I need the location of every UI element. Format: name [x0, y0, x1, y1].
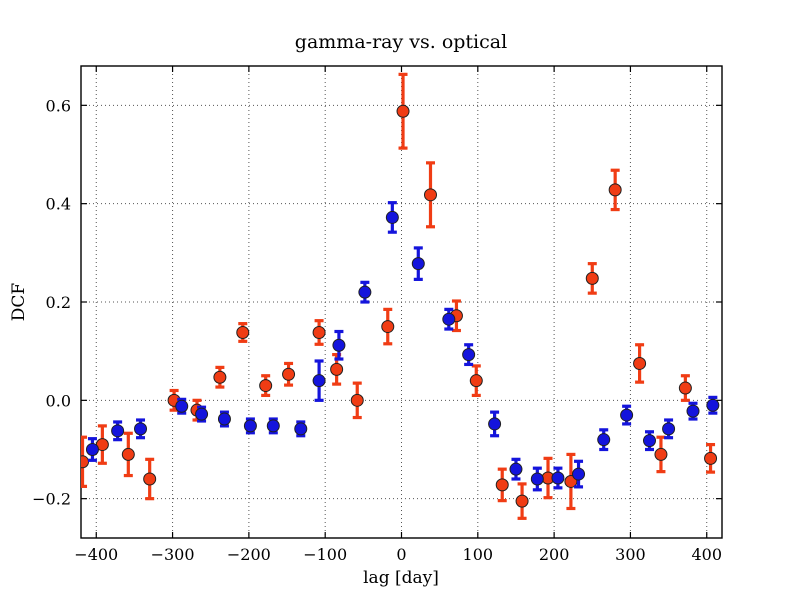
data-point [609, 170, 621, 209]
data-point [510, 459, 522, 479]
data-point [196, 407, 208, 421]
data-point [655, 437, 667, 471]
data-point [463, 345, 475, 365]
x-tick-label: −400 [74, 545, 118, 564]
plot-title: gamma-ray vs. optical [295, 31, 507, 53]
y-axis-label: DCF [9, 283, 29, 322]
data-point [531, 468, 543, 490]
x-tick-label: −200 [227, 545, 271, 564]
data-point [313, 321, 325, 345]
data-point [687, 403, 699, 419]
data-point [634, 345, 646, 382]
data-point [644, 432, 656, 450]
data-point [598, 430, 610, 450]
y-tick-label: −0.2 [32, 490, 71, 509]
data-point [135, 420, 147, 438]
data-point [122, 433, 134, 475]
data-point [586, 264, 598, 294]
x-tick-label: 0 [396, 545, 406, 564]
dcf-scatter-plot: gamma-ray vs. optical −400−300−200−10001… [0, 0, 800, 600]
data-point [214, 367, 226, 387]
series-optical [86, 203, 718, 490]
data-point [112, 422, 124, 440]
data-point [237, 324, 249, 342]
axis-tick-labels: −400−300−200−1000100200300400−0.20.00.20… [32, 96, 722, 564]
data-point [267, 419, 279, 433]
data-point [218, 412, 230, 426]
figure-canvas: gamma-ray vs. optical −400−300−200−10001… [0, 0, 800, 600]
x-tick-label: −100 [303, 545, 347, 564]
y-tick-label: 0.0 [46, 391, 71, 410]
data-point [516, 484, 528, 518]
y-tick-label: 0.6 [46, 96, 71, 115]
data-point [705, 445, 717, 473]
data-point [663, 420, 675, 438]
data-point [386, 203, 398, 233]
data-point [424, 163, 436, 227]
x-tick-label: −300 [151, 545, 195, 564]
data-point [295, 422, 307, 436]
data-point [313, 361, 325, 400]
data-point [77, 437, 89, 486]
series-gamma-ray [77, 74, 717, 518]
data-point [244, 419, 256, 433]
data-point [283, 363, 295, 385]
data-point [96, 426, 108, 463]
data-point [470, 366, 482, 396]
y-tick-label: 0.2 [46, 293, 71, 312]
data-point [260, 376, 272, 396]
data-point [397, 74, 409, 148]
data-point [489, 412, 501, 436]
plot-title-group: gamma-ray vs. optical [295, 31, 507, 53]
x-tick-label: 400 [691, 545, 722, 564]
data-point [412, 248, 424, 279]
x-tick-label: 100 [463, 545, 494, 564]
y-tick-label: 0.4 [46, 195, 71, 214]
x-tick-label: 300 [615, 545, 646, 564]
data-point [144, 459, 156, 498]
data-point [382, 309, 394, 343]
data-point [351, 383, 363, 417]
data-point [552, 468, 564, 488]
data-point [679, 376, 691, 401]
data-point [359, 282, 371, 302]
data-point [496, 469, 508, 500]
data-point [621, 406, 633, 424]
x-tick-label: 200 [539, 545, 570, 564]
data-points-layer [77, 74, 719, 518]
data-point [176, 399, 188, 413]
x-axis-label: lag [day] [363, 568, 439, 588]
